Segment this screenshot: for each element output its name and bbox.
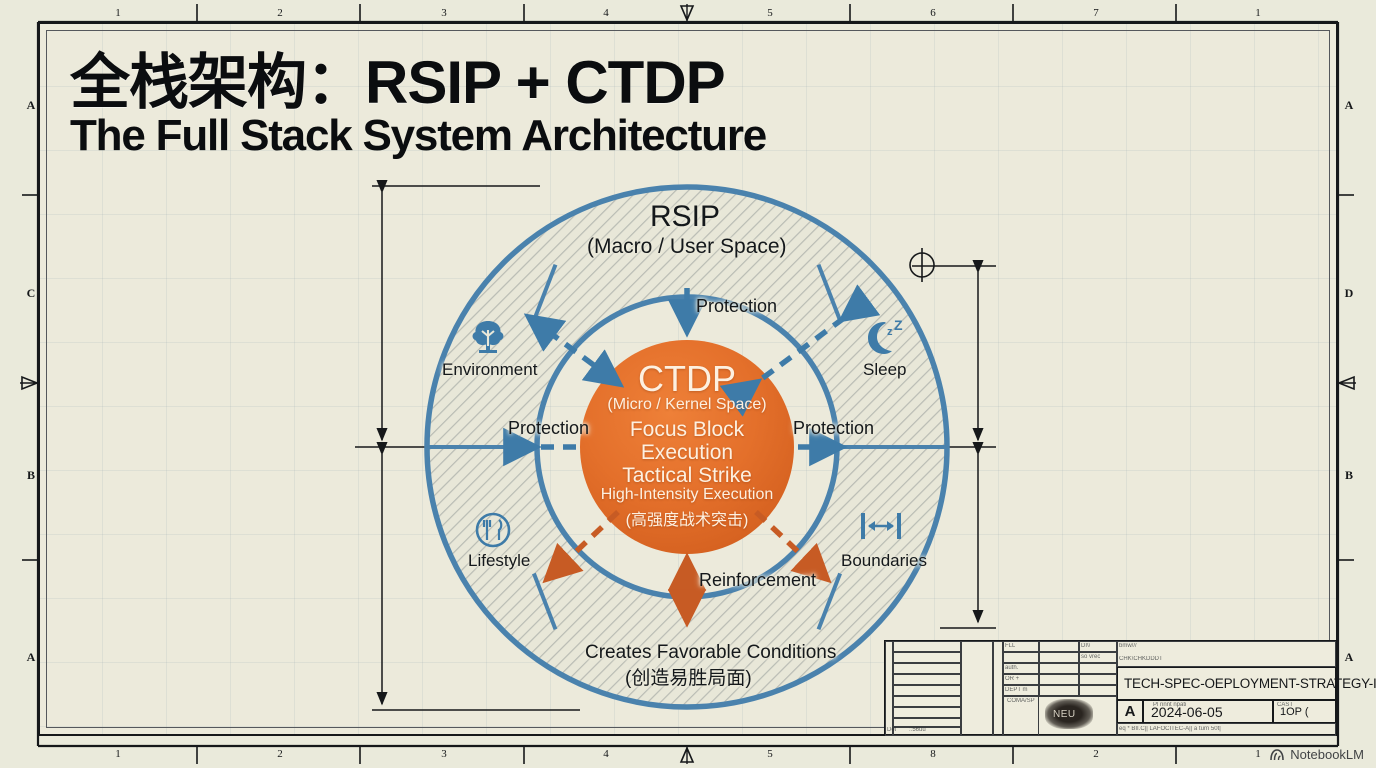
- rsip-title: RSIP: [650, 200, 720, 234]
- core-line-2: Execution: [587, 441, 787, 465]
- blueprint-page: 1 2 3 4 5 6 7 1 1 2 3 4 5 8 2 1 A C B A …: [0, 0, 1376, 768]
- flow-label-reinforcement: Reinforcement: [699, 570, 816, 591]
- scale-value: 1OP (: [1280, 706, 1309, 718]
- ruler-right-a: A: [1339, 98, 1359, 113]
- stamp-text: NEU: [1053, 709, 1076, 720]
- flow-label-protection-right: Protection: [793, 418, 874, 439]
- title-block: FLL DI\\ so vrec bmw/// auth. OR + DEPT …: [884, 640, 1336, 735]
- page-title-en: The Full Stack System Architecture: [70, 112, 766, 160]
- ruler-bottom-2: 2: [265, 748, 295, 760]
- ring-icon-label-sleep: Sleep: [863, 360, 906, 380]
- ruler-right-b: B: [1339, 468, 1359, 483]
- flow-label-protection-left: Protection: [508, 418, 589, 439]
- ruler-bottom-6: 8: [918, 748, 948, 760]
- ruler-bottom-1: 1: [103, 748, 133, 760]
- tb-field-12: ::56uu: [909, 727, 926, 733]
- revision-value: A: [1125, 703, 1136, 720]
- tb-field-0: FLL: [1005, 643, 1015, 649]
- ruler-bottom-3: 3: [429, 748, 459, 760]
- utensils-icon: [473, 510, 513, 555]
- ring-icon-label-lifestyle: Lifestyle: [468, 551, 530, 571]
- ruler-top-6: 6: [918, 7, 948, 19]
- core-line-4: High-Intensity Execution: [577, 486, 797, 504]
- page-title-group: 全栈架构：RSIP + CTDP The Full Stack System A…: [70, 52, 766, 160]
- ring-icon-label-environment: Environment: [442, 360, 537, 380]
- width-arrow-icon: [858, 508, 904, 549]
- tb-field-11: Det: [887, 727, 896, 733]
- ruler-top-1: 1: [103, 7, 133, 19]
- tb-field-6: DEPT m: [1005, 687, 1028, 693]
- tree-icon: [467, 316, 509, 363]
- moon-sleep-icon: z Z: [862, 318, 906, 363]
- ruler-right-d: D: [1339, 286, 1359, 301]
- flow-label-protection-top: Protection: [696, 296, 777, 317]
- ring-bottom-line1: Creates Favorable Conditions: [585, 642, 836, 664]
- ruler-bottom-4: 4: [591, 748, 621, 760]
- ruler-bottom-5: 5: [755, 748, 785, 760]
- svg-text:Z: Z: [894, 318, 903, 333]
- date-value: 2024-06-05: [1151, 704, 1223, 720]
- date-field: 2024-06-05: [1143, 700, 1273, 723]
- ruler-top-2: 2: [265, 7, 295, 19]
- core-line-1: Focus Block: [587, 418, 787, 442]
- tb-field-3: bmw///: [1119, 643, 1137, 649]
- core-line-3: Tactical Strike: [587, 464, 787, 488]
- drawing-title-value: TECH-SPEC-OEPLOYMENT-STRATEGY-II: [1124, 676, 1376, 691]
- ruler-bottom-7: 2: [1081, 748, 1111, 760]
- ruler-right-a2: A: [1339, 650, 1359, 665]
- scale-field: 1OP (: [1273, 700, 1336, 723]
- watermark-label: NotebookLM: [1290, 747, 1364, 762]
- notebooklm-watermark: NotebookLM: [1269, 747, 1364, 762]
- tb-field-8: COMA/SP: [1007, 698, 1035, 704]
- ruler-top-5: 5: [755, 7, 785, 19]
- drawing-title-field: TECH-SPEC-OEPLOYMENT-STRATEGY-II: [1117, 667, 1336, 700]
- tb-field-13: eq * BII.C|| LAFOCITEC-A|| a turn 50t|: [1119, 726, 1221, 732]
- rsip-subtitle: (Macro / User Space): [587, 235, 787, 259]
- ring-icon-label-boundaries: Boundaries: [841, 551, 927, 571]
- core-subtitle: (Micro / Kernel Space): [587, 396, 787, 414]
- tb-field-1: DI\\: [1081, 643, 1090, 649]
- tb-field-2: so vrec: [1081, 654, 1100, 660]
- ring-bottom-line2: (创造易胜局面): [625, 663, 752, 690]
- tb-field-4: auth.: [1005, 665, 1018, 671]
- page-title-cn: 全栈架构：RSIP + CTDP: [70, 52, 766, 114]
- tb-field-5: OR +: [1005, 676, 1019, 682]
- core-line-5: (高强度战术突击): [587, 506, 787, 530]
- core-title: CTDP: [587, 358, 787, 400]
- notebooklm-logo-icon: [1269, 748, 1285, 762]
- ruler-top-7: 7: [1081, 7, 1111, 19]
- ruler-top-3: 3: [429, 7, 459, 19]
- ruler-top-4: 4: [591, 7, 621, 19]
- ruler-top-8: 1: [1243, 7, 1273, 19]
- tb-field-7: CHK\CHKDDDT: [1119, 656, 1163, 662]
- svg-text:z: z: [887, 326, 893, 338]
- revision-field: A: [1117, 700, 1143, 723]
